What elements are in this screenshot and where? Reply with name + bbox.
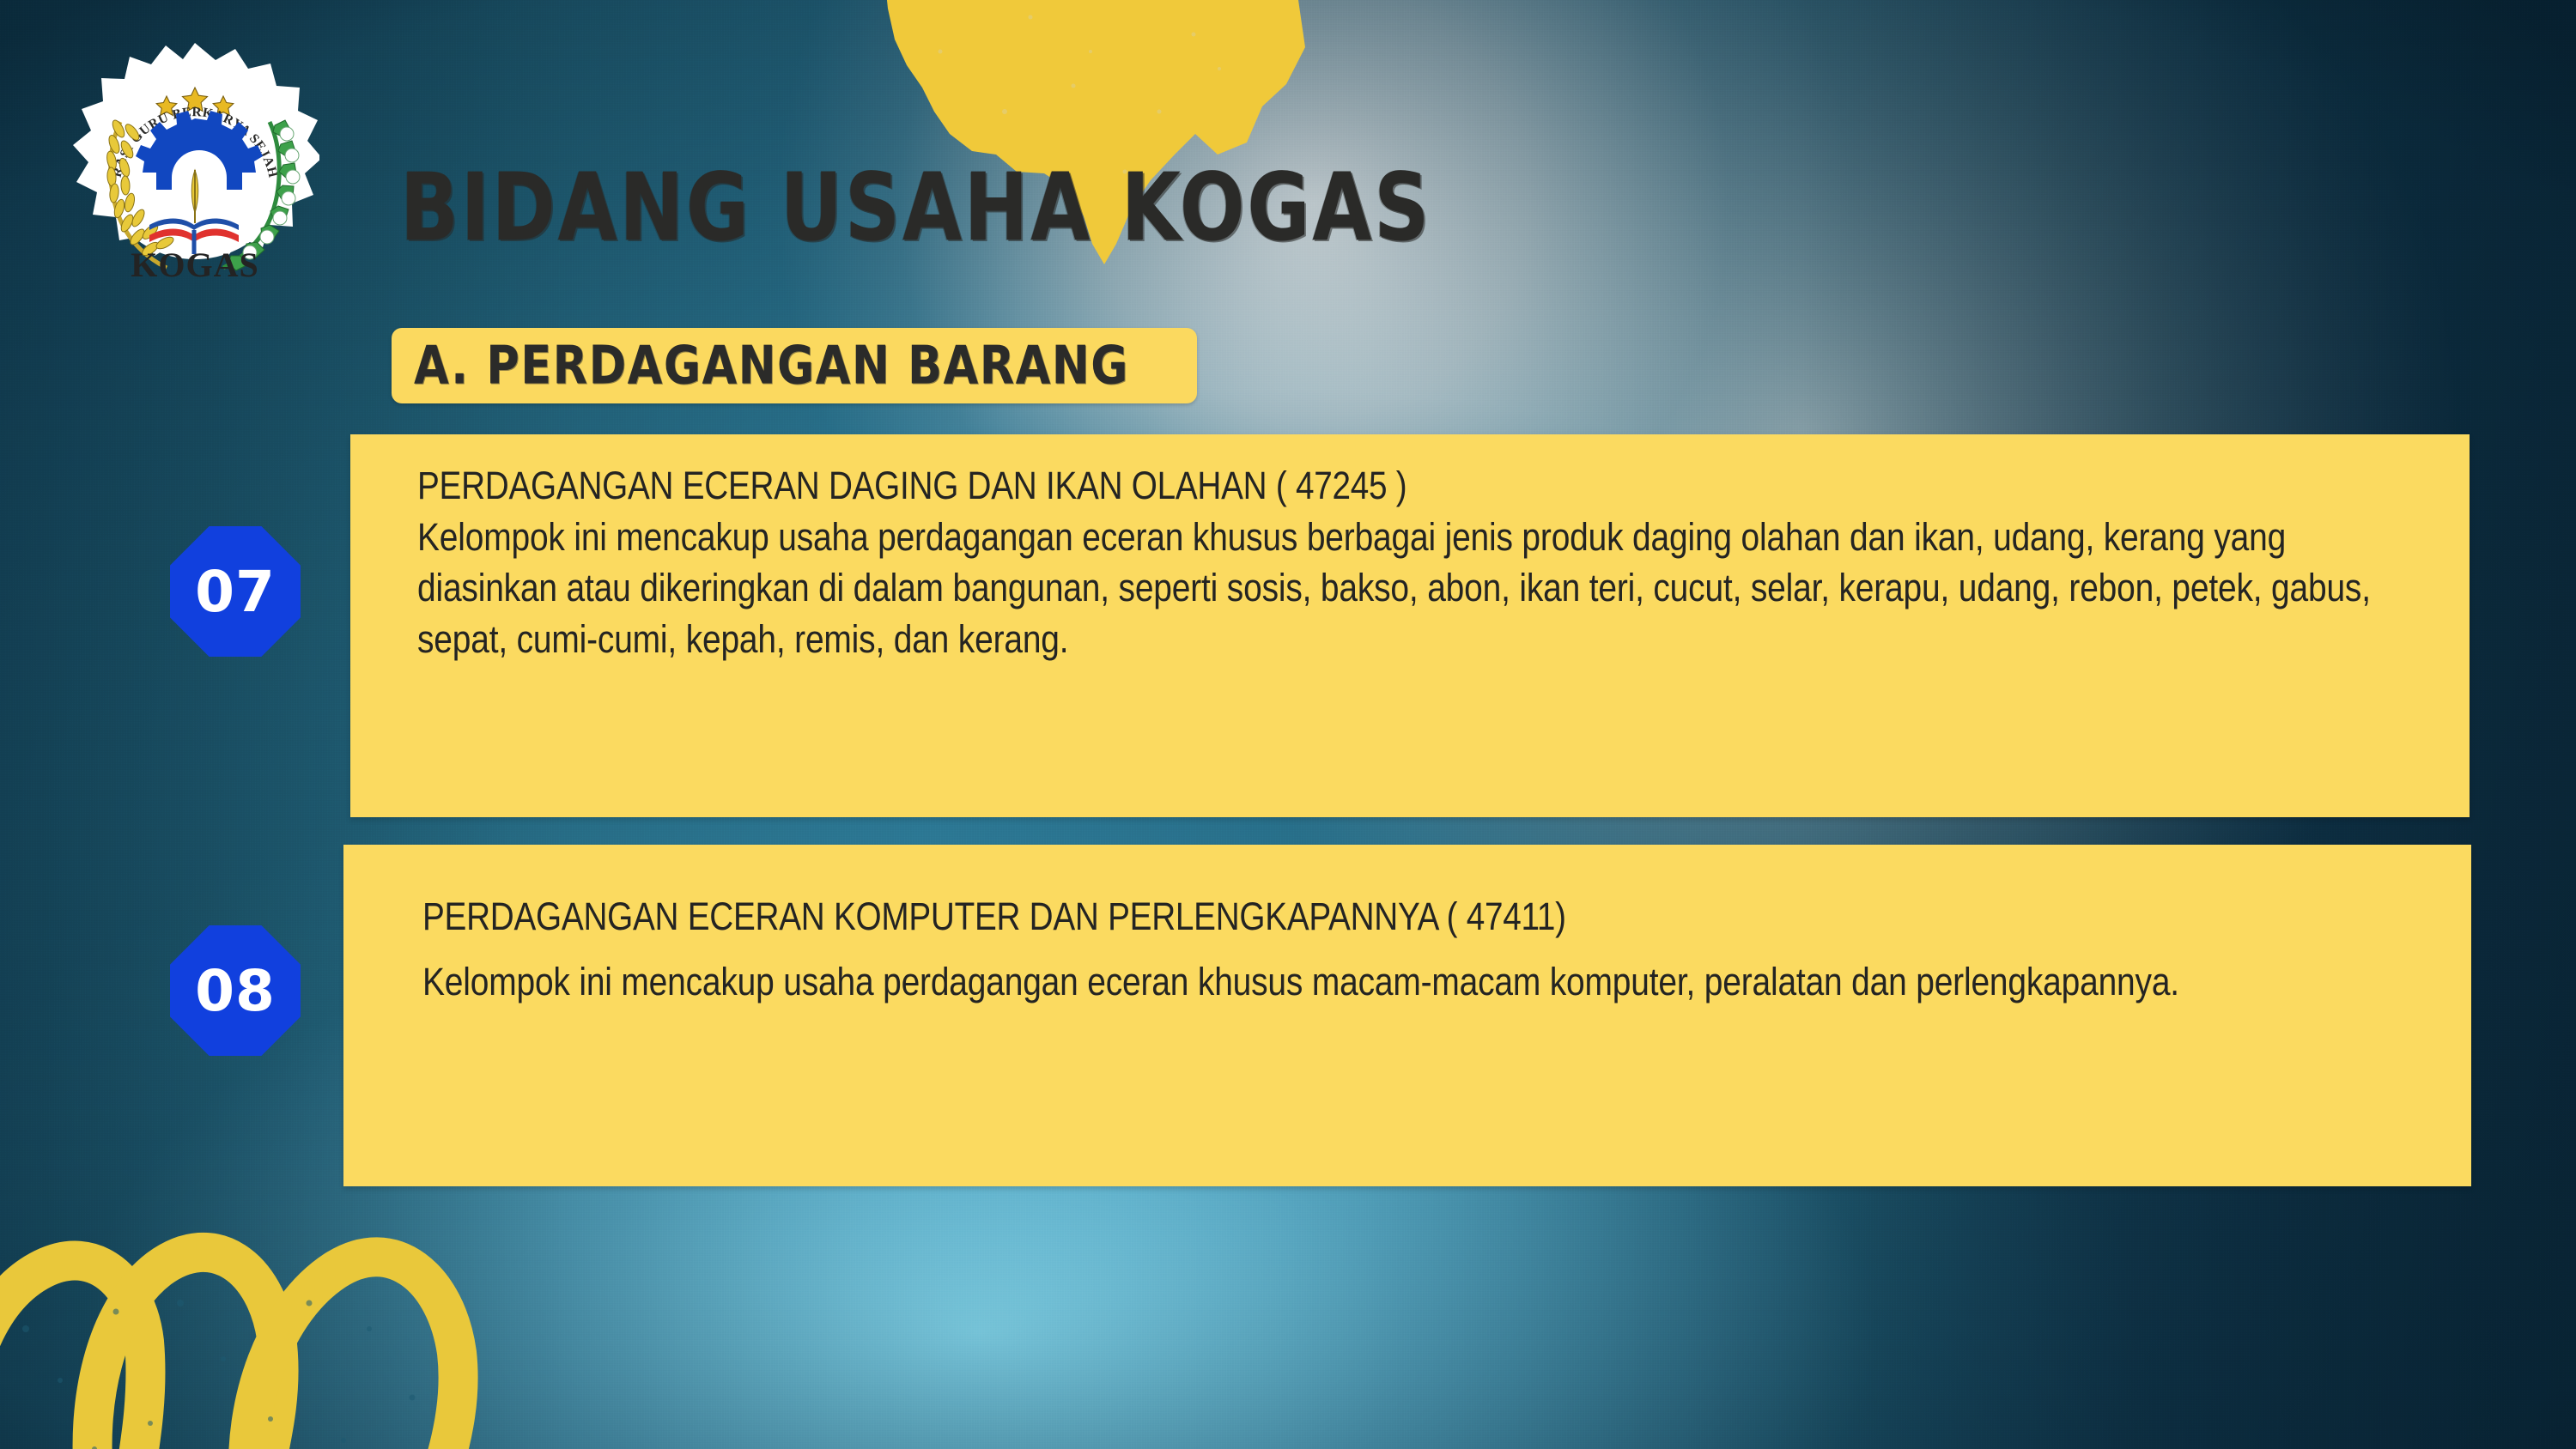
- kogas-logo: KOPERASI GURU BERKARYA SEJAHTERA: [70, 43, 319, 292]
- business-item-heading: PERDAGANGAN ECERAN DAGING DAN IKAN OLAHA…: [417, 464, 2153, 508]
- slide-canvas: KOPERASI GURU BERKARYA SEJAHTERA: [0, 0, 2576, 1449]
- section-subtitle-text: A. PERDAGANGAN BARANG: [414, 340, 1129, 393]
- logo-wordmark: KOGAS: [131, 246, 258, 284]
- section-subtitle-badge: A. PERDAGANGAN BARANG: [392, 328, 1197, 403]
- item-number-badge: 08: [170, 925, 301, 1056]
- business-item-body: Kelompok ini mencakup usaha perdagangan …: [417, 512, 2425, 664]
- item-number-label: 07: [195, 559, 276, 625]
- business-item-heading: PERDAGANGAN ECERAN KOMPUTER DAN PERLENGK…: [422, 894, 2155, 939]
- business-item-body: Kelompok ini mencakup usaha perdagangan …: [422, 955, 2427, 1009]
- business-item-card: PERDAGANGAN ECERAN DAGING DAN IKAN OLAHA…: [350, 434, 2470, 817]
- page-title: BIDANG USAHA KOGAS: [400, 153, 1431, 262]
- business-item-card: PERDAGANGAN ECERAN KOMPUTER DAN PERLENGK…: [343, 845, 2471, 1186]
- yellow-scribble-decoration: [0, 1200, 567, 1449]
- item-number-label: 08: [195, 958, 276, 1024]
